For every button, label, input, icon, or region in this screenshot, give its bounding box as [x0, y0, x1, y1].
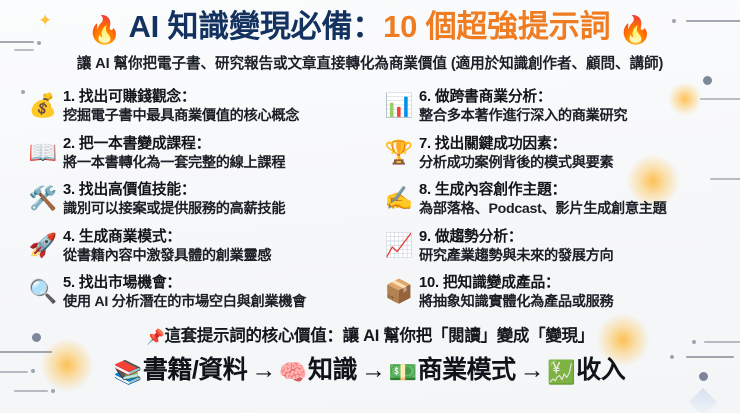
magnifying-glass-icon: 🔍 — [26, 274, 60, 303]
list-item[interactable]: 🚀 4. 生成商業模式： 從書籍內容中激發具體的創業靈感 — [26, 228, 370, 275]
flow-label-business-model: 商業模式 — [417, 356, 517, 384]
trophy-icon: 🏆 — [382, 135, 416, 164]
flow-arrow-3: → — [517, 356, 548, 384]
trending-up-chart-icon: 📈 — [382, 228, 416, 257]
core-value-line: 📌這套提示詞的核心價值：讓 AI 幫你把「閱讀」變成「變現」 — [0, 322, 740, 346]
prompt-list: 💰 1. 找出可賺錢觀念： 挖掘電子書中最具商業價值的核心概念 📖 2. 把一本… — [0, 88, 740, 316]
decor-diamond-bottom-right — [689, 388, 717, 413]
list-item-title: 3. 找出高價值技能： — [63, 181, 285, 200]
page-subtitle: 讓 AI 幫你把電子書、研究報告或文章直接轉化為商業價值 (適用於知識創作者、顧… — [0, 52, 740, 73]
decor-line-bottom-left-3 — [14, 390, 48, 392]
decor-dot-right-upper — [703, 76, 712, 85]
list-item-desc: 為部落格、Podcast、影片生成創意主題 — [419, 200, 667, 219]
list-item-title: 4. 生成商業模式： — [63, 228, 271, 247]
list-item-body: 3. 找出高價值技能： 識別可以接案或提供服務的高薪技能 — [60, 181, 285, 219]
poster-header: 🔥 AI 知識變現必備：10 個超強提示詞 🔥 讓 AI 幫你把電子書、研究報告… — [0, 8, 740, 73]
fire-icon-left: 🔥 — [88, 15, 121, 45]
list-item-title: 7. 找出關鍵成功因素： — [419, 135, 613, 154]
flow-label-income: 收入 — [575, 356, 626, 384]
list-item-body: 1. 找出可賺錢觀念： 挖掘電子書中最具商業價值的核心概念 — [60, 88, 299, 126]
list-item-desc: 挖掘電子書中最具商業價值的核心概念 — [63, 107, 299, 126]
decor-dot-bottom-left-3 — [51, 389, 55, 393]
list-item-title: 2. 把一本書變成課程： — [63, 135, 285, 154]
list-item-title: 10. 把知識變成產品： — [419, 274, 613, 293]
list-item[interactable]: 🛠️ 3. 找出高價值技能： 識別可以接案或提供服務的高薪技能 — [26, 181, 370, 228]
list-item[interactable]: 💰 1. 找出可賺錢觀念： 挖掘電子書中最具商業價值的核心概念 — [26, 88, 370, 135]
books-icon: 📚 — [114, 359, 142, 385]
list-item-title: 8. 生成內容創作主題： — [419, 181, 667, 200]
list-item-title: 6. 做跨書商業分析： — [419, 88, 627, 107]
list-item-title: 1. 找出可賺錢觀念： — [63, 88, 299, 107]
open-book-teacher-icon: 📖 — [26, 135, 60, 164]
page-title: 🔥 AI 知識變現必備：10 個超強提示詞 🔥 — [0, 8, 740, 47]
package-box-icon: 📦 — [382, 274, 416, 303]
page-title-orange: 10 個超強提示詞 — [383, 9, 610, 44]
list-item-desc: 識別可以接案或提供服務的高薪技能 — [63, 200, 285, 219]
poster-canvas: ✦ 🔥 AI 知識變現必備：10 個超強提示詞 🔥 讓 AI 幫你把電子書、研究… — [0, 0, 740, 413]
fire-icon-right: 🔥 — [619, 15, 652, 45]
money-chart-icon: 💹 — [547, 359, 575, 385]
list-item[interactable]: 📖 2. 把一本書變成課程： 將一本書轉化為一套完整的線上課程 — [26, 135, 370, 182]
page-title-navy: AI 知識變現必備： — [128, 9, 383, 44]
prompt-list-left-column: 💰 1. 找出可賺錢觀念： 挖掘電子書中最具商業價值的核心概念 📖 2. 把一本… — [0, 88, 370, 316]
poster-footer: 📌這套提示詞的核心價值：讓 AI 幫你把「閱讀」變成「變現」 📚書籍/資料→🧠知… — [0, 322, 740, 387]
prompt-list-right-column: 📊 6. 做跨書商業分析： 整合多本著作進行深入的商業研究 🏆 7. 找出關鍵成… — [370, 88, 740, 316]
list-item-desc: 使用 AI 分析潛在的市場空白與創業機會 — [63, 293, 306, 312]
pushpin-icon: 📌 — [146, 329, 164, 346]
value-flow-chain: 📚書籍/資料→🧠知識→💵商業模式→💹收入 — [0, 355, 740, 387]
list-item-title: 5. 找出市場機會： — [63, 274, 306, 293]
list-item[interactable]: 📦 10. 把知識變成產品： 將抽象知識實體化為產品或服務 — [382, 274, 740, 321]
list-item[interactable]: 🏆 7. 找出關鍵成功因素： 分析成功案例背後的模式與要素 — [382, 135, 740, 182]
list-item-body: 4. 生成商業模式： 從書籍內容中激發具體的創業靈感 — [60, 228, 271, 266]
list-item-body: 5. 找出市場機會： 使用 AI 分析潛在的市場空白與創業機會 — [60, 274, 306, 312]
banknote-icon: 💵 — [388, 359, 416, 385]
flow-arrow-1: → — [248, 356, 279, 384]
bar-chart-icon: 📊 — [382, 88, 416, 117]
list-item[interactable]: 📊 6. 做跨書商業分析： 整合多本著作進行深入的商業研究 — [382, 88, 740, 135]
list-item-body: 6. 做跨書商業分析： 整合多本著作進行深入的商業研究 — [416, 88, 627, 126]
core-value-text: 這套提示詞的核心價值：讓 AI 幫你把「閱讀」變成「變現」 — [164, 327, 593, 345]
list-item-desc: 整合多本著作進行深入的商業研究 — [419, 107, 627, 126]
money-bag-icon: 💰 — [26, 88, 60, 117]
list-item-desc: 將抽象知識實體化為產品或服務 — [419, 293, 613, 312]
list-item-body: 9. 做趨勢分析： 研究產業趨勢與未來的發展方向 — [416, 228, 613, 266]
list-item-desc: 分析成功案例背後的模式與要素 — [419, 154, 613, 173]
flow-label-knowledge: 知識 — [307, 356, 358, 384]
list-item-desc: 將一本書轉化為一套完整的線上課程 — [63, 154, 285, 173]
rocket-icon: 🚀 — [26, 228, 60, 257]
flow-label-books: 書籍/資料 — [142, 356, 248, 384]
list-item-body: 2. 把一本書變成課程： 將一本書轉化為一套完整的線上課程 — [60, 135, 285, 173]
list-item-body: 8. 生成內容創作主題： 為部落格、Podcast、影片生成創意主題 — [416, 181, 667, 219]
list-item-body: 7. 找出關鍵成功因素： 分析成功案例背後的模式與要素 — [416, 135, 613, 173]
hammer-and-wrench-icon: 🛠️ — [26, 181, 60, 210]
list-item[interactable]: ✍️ 8. 生成內容創作主題： 為部落格、Podcast、影片生成創意主題 — [382, 181, 740, 228]
list-item-desc: 從書籍內容中激發具體的創業靈感 — [63, 247, 271, 266]
list-item-desc: 研究產業趨勢與未來的發展方向 — [419, 247, 613, 266]
brain-icon: 🧠 — [279, 359, 307, 385]
writing-hand-icon: ✍️ — [382, 181, 416, 210]
list-item[interactable]: 🔍 5. 找出市場機會： 使用 AI 分析潛在的市場空白與創業機會 — [26, 274, 370, 321]
list-item[interactable]: 📈 9. 做趨勢分析： 研究產業趨勢與未來的發展方向 — [382, 228, 740, 275]
list-item-title: 9. 做趨勢分析： — [419, 228, 613, 247]
list-item-body: 10. 把知識變成產品： 將抽象知識實體化為產品或服務 — [416, 274, 613, 312]
flow-arrow-2: → — [358, 356, 389, 384]
